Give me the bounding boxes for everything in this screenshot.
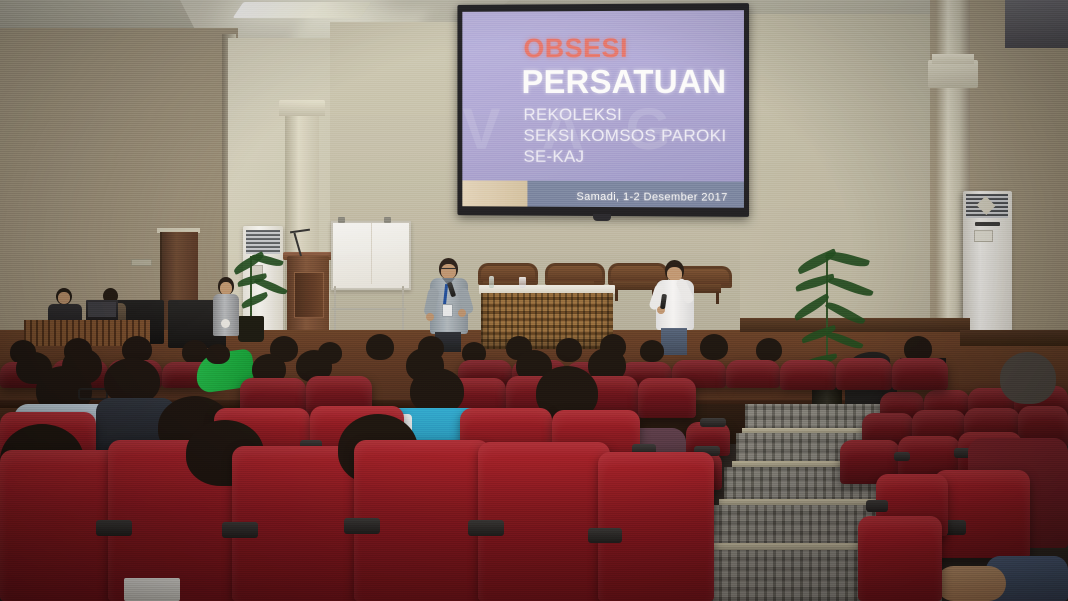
- seat[interactable]: [726, 360, 780, 388]
- audience-head: [556, 338, 582, 362]
- standing-woman: [210, 277, 242, 345]
- photo-scene: V A G OBSESI PERSATUAN REKOLEKSI SEKSI K…: [0, 0, 1068, 601]
- name-badge: [442, 304, 453, 317]
- screen-mount: [593, 214, 611, 221]
- water-bottle: [489, 276, 494, 288]
- stage-baseboard-right: [960, 330, 1068, 346]
- pilaster-capital: [279, 100, 325, 116]
- standing-ac-nameplate: [975, 222, 1000, 226]
- audience-head: [640, 340, 664, 362]
- seat[interactable]: [934, 470, 1030, 558]
- slide-footer-date: Samadi, 1-2 Desember 2017: [576, 191, 727, 204]
- slide-subtitle-line-3: SE-KAJ: [523, 146, 726, 168]
- laptop-screen: [88, 302, 116, 317]
- column-right-abacus: [932, 54, 974, 64]
- wall-vent: [131, 259, 152, 266]
- slide-footer-swatch: [462, 180, 527, 206]
- audience-head: [206, 344, 230, 364]
- audience-head: [366, 334, 394, 360]
- presenter-right: [652, 260, 698, 355]
- legs: [661, 328, 687, 355]
- whiteboard-seam: [371, 223, 372, 284]
- eyeglasses-icon: [441, 268, 456, 272]
- whiteboard-clip-right: [384, 217, 391, 223]
- hand: [426, 313, 434, 321]
- seat-armrest: [96, 520, 132, 536]
- window-right: [1005, 0, 1068, 48]
- audience-head: [700, 334, 728, 360]
- seat[interactable]: [858, 516, 942, 601]
- seat-armrest: [700, 418, 726, 427]
- seat[interactable]: [598, 452, 714, 601]
- ac-grille-icon: [246, 230, 280, 254]
- torso: [213, 294, 239, 336]
- hand: [458, 309, 466, 317]
- standing-ac-control-panel[interactable]: [974, 230, 993, 242]
- slide-surface: V A G OBSESI PERSATUAN REKOLEKSI SEKSI K…: [462, 10, 744, 208]
- seat[interactable]: [780, 360, 836, 390]
- column-right-capital: [928, 60, 978, 88]
- chair-seat: [613, 281, 657, 290]
- chair-leg: [615, 289, 618, 301]
- seat-armrest: [866, 500, 888, 512]
- audience-arm: [936, 566, 1006, 601]
- projection-screen: V A G OBSESI PERSATUAN REKOLEKSI SEKSI K…: [457, 3, 749, 217]
- slide-subtitle-line-2: SEKSI KOMSOS PAROKI: [523, 125, 726, 146]
- slide-subtitle-line-1: REKOLEKSI: [523, 104, 726, 125]
- podium-panel: [294, 272, 324, 318]
- seat[interactable]: [638, 378, 696, 418]
- slide-heading-accent: OBSESI: [523, 33, 628, 64]
- seat-armrest: [222, 522, 258, 538]
- face: [58, 292, 70, 304]
- head-table-skirt: [481, 293, 613, 349]
- whiteboard-clip-left: [338, 217, 345, 223]
- seat[interactable]: [892, 358, 948, 390]
- drinking-glass: [519, 277, 526, 288]
- hand: [674, 272, 682, 280]
- chair-leg: [716, 292, 719, 304]
- audience-head: [756, 338, 782, 362]
- paper-card: [124, 578, 180, 601]
- seat-armrest: [468, 520, 504, 536]
- audience-head: [1000, 352, 1056, 404]
- hand: [221, 319, 230, 328]
- seat-armrest: [344, 518, 380, 534]
- seat[interactable]: [836, 358, 892, 390]
- slide-subtitle: REKOLEKSI SEKSI KOMSOS PAROKI SE-KAJ: [523, 104, 726, 167]
- slide-footer-bar: Samadi, 1-2 Desember 2017: [462, 180, 744, 207]
- whiteboard-stand: [330, 286, 408, 334]
- seat-armrest: [588, 528, 622, 543]
- whiteboard-stand-bar: [332, 308, 406, 310]
- slide-heading-main: PERSATUAN: [521, 63, 726, 101]
- seat-armrest: [894, 452, 910, 461]
